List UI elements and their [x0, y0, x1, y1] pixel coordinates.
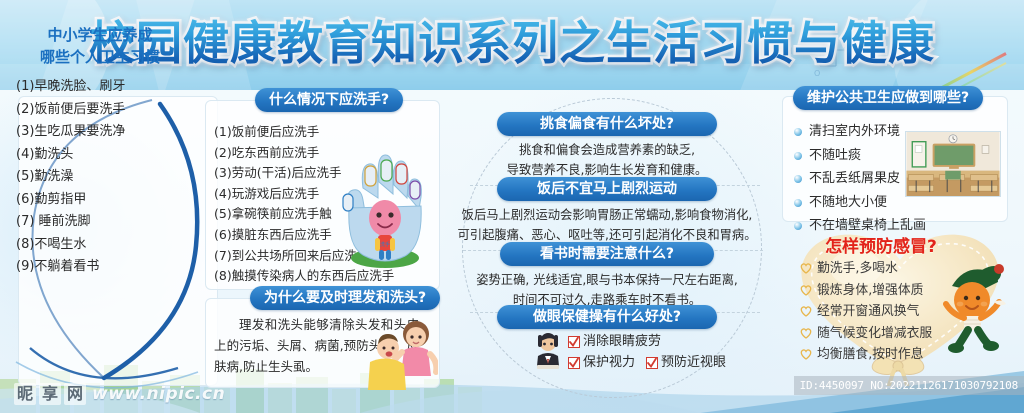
list-item: (9)不躺着看书	[16, 256, 196, 279]
picky-eating-heading: 挑食偏食有什么坏处?	[497, 112, 717, 136]
benefit-row-1: 消除眼睛疲劳	[568, 331, 726, 352]
handwash-heading: 什么情况下应洗手?	[255, 88, 403, 112]
list-item: (2)饭前便后要洗手	[16, 99, 196, 122]
heart-bullet-icon	[800, 284, 812, 296]
watermark-cn-logo: 昵 享 网	[14, 383, 86, 405]
list-item: (4)勤洗头	[16, 144, 196, 167]
checkbox-checked-icon	[646, 357, 658, 369]
public-hygiene-heading: 维护公共卫生应做到哪些?	[793, 86, 983, 110]
list-item: (6)勤剪指甲	[16, 189, 196, 212]
image-id-label: ID:4450097 NO:20221126171030792108	[794, 376, 1024, 395]
personal-hygiene-title: 中小学生应养成 哪些个人卫生习惯	[0, 24, 200, 68]
benefit-label: 消除眼睛疲劳	[583, 331, 661, 352]
poster-canvas: HO O N 校园健康教育知识系列之生活习惯与健康 校园健康教育知识系列之生活习…	[0, 0, 1024, 413]
post-meal-exercise-heading: 饭后不宜马上剧烈运动	[497, 177, 717, 201]
student-reading-icon	[535, 332, 561, 370]
heart-bullet-icon	[800, 262, 812, 274]
personal-hygiene-title-line1: 中小学生应养成	[0, 24, 200, 46]
cold-item-label: 经常开窗通风换气	[817, 304, 919, 319]
benefit-label: 保护视力	[583, 352, 635, 373]
personal-hygiene-title-line2: 哪些个人卫生习惯	[0, 46, 200, 68]
eye-exercise-benefits: 消除眼睛疲劳 保护视力 预防近视眼	[568, 331, 726, 373]
benefit-label: 预防近视眼	[661, 352, 726, 373]
heart-bullet-icon	[800, 348, 812, 360]
hair-care-heading: 为什么要及时理发和洗头?	[250, 286, 440, 310]
list-item: (1)饭前便后应洗手	[214, 122, 444, 143]
checkbox-checked-icon	[568, 357, 580, 369]
orange-mascot-illustration	[942, 258, 1008, 354]
cold-item-label: 均衡膳食,按时作息	[817, 347, 923, 362]
watermark: 昵 享 网 www.nipic.cn	[14, 381, 225, 407]
picky-eating-text: 挑食和偏食会造成营养素的缺乏, 导致营养不良,影响生长发育和健康。	[455, 140, 759, 180]
checkbox-checked-icon	[568, 336, 580, 348]
reading-posture-heading: 看书时需要注意什么?	[500, 242, 714, 266]
watermark-char-1: 昵	[14, 383, 36, 405]
post-meal-exercise-text: 饭后马上剧烈运动会影响胃肠正常蠕动,影响食物消化, 可引起腹痛、恶心、呕吐等,还…	[442, 205, 772, 245]
list-item: (8)不喝生水	[16, 234, 196, 257]
cold-item-label: 随气候变化增减衣服	[817, 326, 932, 341]
cold-item-label: 勤洗手,多喝水	[817, 261, 898, 276]
mother-child-illustration	[360, 318, 438, 390]
reading-posture-text: 姿势正确, 光线适宜,眼与书本保持一尺左右距离, 时间不可过久,走路乘车时不看书…	[444, 270, 770, 310]
watermark-char-3: 网	[64, 383, 86, 405]
handwashing-hand-illustration: 洗手	[333, 152, 437, 270]
list-item: (3)生吃瓜果要洗净	[16, 121, 196, 144]
watermark-char-2: 享	[39, 383, 61, 405]
watermark-url: www.nipic.cn	[92, 384, 225, 404]
reading-line1: 姿势正确, 光线适宜,眼与书本保持一尺左右距离,	[444, 270, 770, 290]
cold-prevention-title: 怎样预防感冒?	[786, 232, 976, 257]
svg-text:洗手: 洗手	[380, 241, 390, 248]
personal-hygiene-content: 中小学生应养成 哪些个人卫生习惯 (1)早晚洗脸、刷牙 (2)饭前便后要洗手 (…	[0, 0, 200, 290]
post-meal-line1: 饭后马上剧烈运动会影响胃肠正常蠕动,影响食物消化,	[442, 205, 772, 225]
eye-exercise-heading: 做眼保健操有什么好处?	[497, 305, 717, 329]
personal-hygiene-list: (1)早晚洗脸、刷牙 (2)饭前便后要洗手 (3)生吃瓜果要洗净 (4)勤洗头 …	[16, 76, 196, 279]
classroom-photo	[905, 131, 1001, 197]
cold-item-label: 锻炼身体,增强体质	[817, 283, 923, 298]
heart-bullet-icon	[800, 305, 812, 317]
list-item: (7) 睡前洗脚	[16, 211, 196, 234]
list-item: (5)勤洗澡	[16, 166, 196, 189]
picky-eating-line1: 挑食和偏食会造成营养素的缺乏,	[455, 140, 759, 160]
list-item: (1)早晚洗脸、刷牙	[16, 76, 196, 99]
benefit-row-2: 保护视力 预防近视眼	[568, 352, 726, 373]
heart-bullet-icon	[800, 327, 812, 339]
